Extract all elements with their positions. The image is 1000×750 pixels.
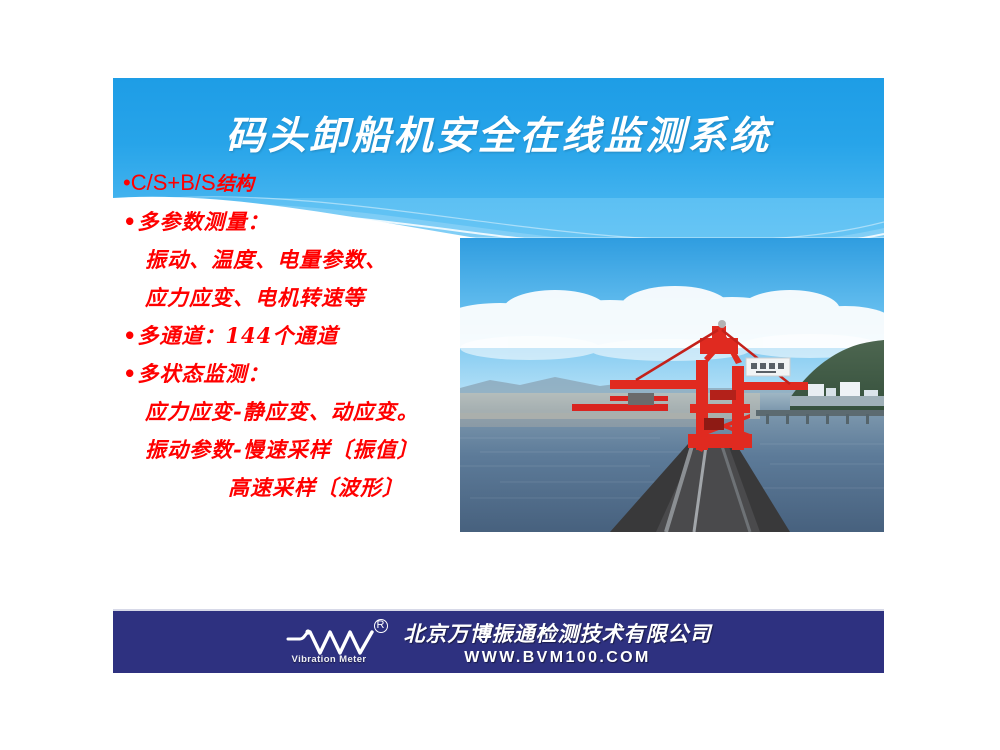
list-item-multi-state: •多状态监测：: [123, 355, 483, 393]
list-item-param-line-2: 应力应变、电机转速等: [123, 279, 483, 317]
list-item-param-line-1: 振动、温度、电量参数、: [123, 241, 483, 279]
list-item-state-line-1: 应力应变-静应变、动应变。: [123, 393, 483, 431]
bullet-text-structure: •C/S+B/S: [123, 170, 216, 195]
vibration-meter-logo: R Vibration Meter: [286, 619, 390, 665]
list-item-multi-param: •多参数测量：: [123, 203, 483, 241]
list-item-structure: •C/S+B/S结构: [123, 164, 483, 203]
list-item-channels: •多通道：144个通道: [123, 317, 483, 355]
list-item-state-line-2: 振动参数-慢速采样〔振值〕: [123, 431, 483, 469]
list-item-state-line-3: 高速采样〔波形〕: [123, 469, 483, 507]
company-name: 北京万博振通检测技术有限公司: [404, 618, 712, 648]
slide-canvas: 码头卸船机安全在线监测系统 •C/S+B/S结构 •多参数测量： 振动、温度、电…: [113, 78, 884, 673]
logo-subtitle: Vibration Meter: [292, 654, 367, 665]
footer-bar: R Vibration Meter 北京万博振通检测技术有限公司 WWW.BVM…: [113, 609, 884, 673]
registered-trademark-icon: R: [374, 619, 388, 633]
company-url[interactable]: WWW.BVM100.COM: [404, 649, 712, 667]
port-crane-photo: [460, 238, 884, 532]
bullet-list: •C/S+B/S结构 •多参数测量： 振动、温度、电量参数、 应力应变、电机转速…: [123, 164, 483, 507]
footer-company-block: 北京万博振通检测技术有限公司 WWW.BVM100.COM: [404, 618, 712, 667]
page-title: 码头卸船机安全在线监测系统: [113, 105, 884, 161]
bullet-text-structure-cn: 结构: [216, 173, 254, 195]
